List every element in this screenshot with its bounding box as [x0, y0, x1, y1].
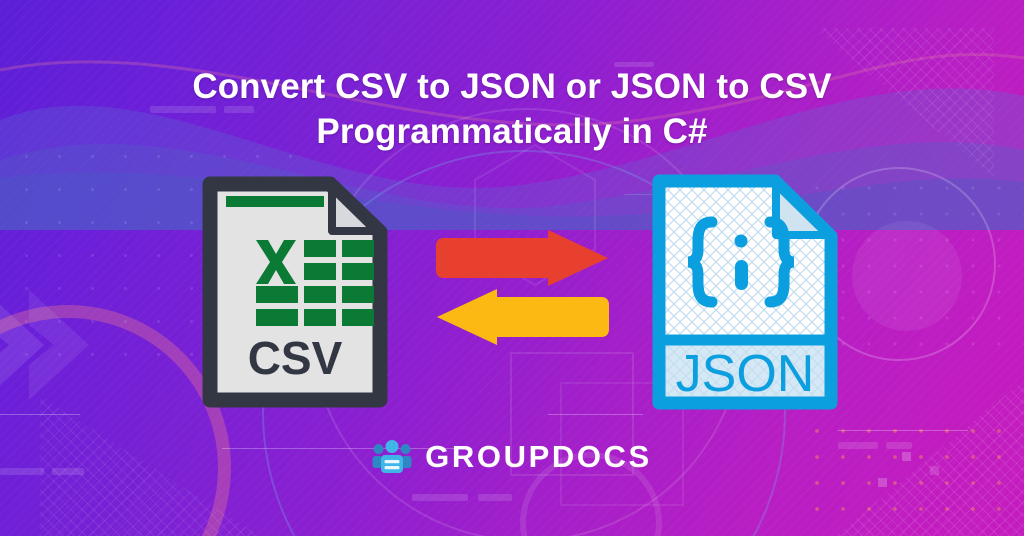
- csv-label: CSV: [248, 332, 343, 384]
- decor-chevron-left: [0, 270, 124, 420]
- csv-to-json-arrow: [436, 230, 608, 286]
- groupdocs-logo-text: GROUPDOCS: [425, 439, 652, 475]
- banner-canvas: Convert CSV to JSON or JSON to CSV Progr…: [0, 0, 1024, 536]
- csv-green-header-bar: [226, 196, 324, 207]
- json-file-icon: JSON: [650, 172, 840, 412]
- json-label: JSON: [676, 345, 815, 403]
- decor-line-4: [0, 414, 80, 415]
- csv-file-icon: CSV: [200, 174, 390, 410]
- json-to-csv-arrow: [437, 289, 609, 345]
- conversion-arrows: [430, 230, 615, 355]
- decor-circle-filled-right: [852, 221, 962, 331]
- decor-line-2: [548, 414, 643, 415]
- headline-line-2: Programmatically in C#: [0, 109, 1024, 154]
- decor-square-dot-2: [878, 478, 887, 487]
- decor-line-3: [838, 430, 968, 431]
- decor-dash-5: [412, 494, 468, 501]
- headline-line-1: Convert CSV to JSON or JSON to CSV: [0, 64, 1024, 109]
- groupdocs-people-icon: [372, 438, 412, 476]
- page-title: Convert CSV to JSON or JSON to CSV Progr…: [0, 64, 1024, 154]
- decor-circle-bottom-left: [0, 305, 231, 536]
- decor-dash-6: [478, 494, 512, 501]
- groupdocs-logo: GROUPDOCS: [0, 438, 1024, 476]
